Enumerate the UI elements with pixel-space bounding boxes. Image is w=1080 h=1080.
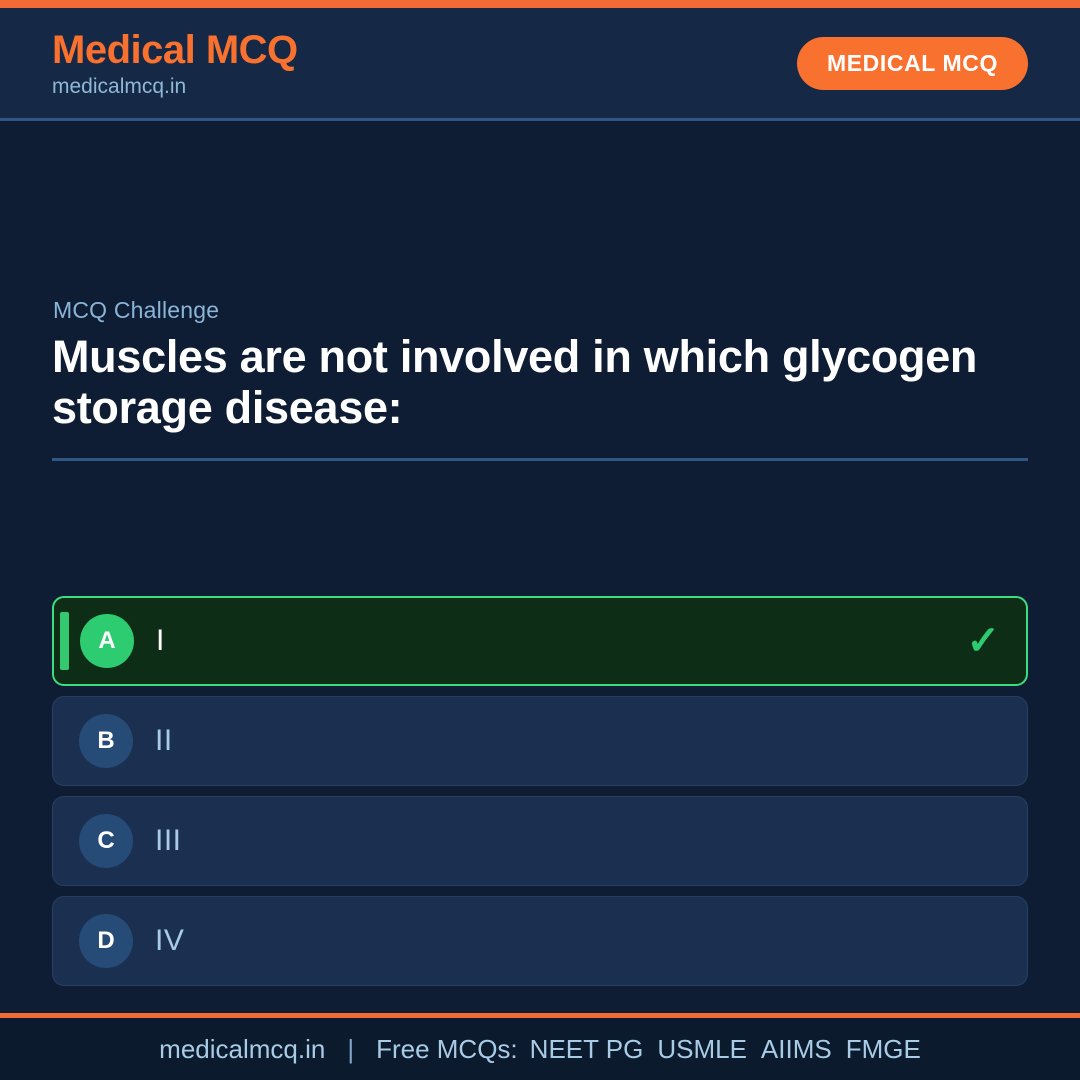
options-list: A I ✓ B II ✓ C III ✓ D IV ✓ (52, 596, 1028, 986)
option-letter-c: C (79, 814, 133, 868)
option-letter-b: B (79, 714, 133, 768)
correct-accent-bar (60, 612, 69, 670)
header-badge: MEDICAL MCQ (797, 37, 1028, 90)
footer-separator: | (347, 1034, 354, 1065)
check-icon: ✓ (966, 621, 1000, 661)
option-text-b: II (155, 724, 173, 758)
question-text: Muscles are not involved in which glycog… (52, 332, 1028, 434)
option-text-d: IV (155, 924, 184, 958)
question-kicker: MCQ Challenge (53, 297, 1028, 324)
footer: medicalmcq.in | Free MCQs: NEET PG USMLE… (0, 1013, 1080, 1080)
brand: Medical MCQ medicalmcq.in (52, 30, 298, 97)
option-row-c[interactable]: C III ✓ (52, 796, 1028, 886)
option-text-a: I (156, 624, 165, 658)
footer-exam-usmle: USMLE (657, 1034, 747, 1065)
question-block: MCQ Challenge Muscles are not involved i… (52, 297, 1028, 461)
option-row-b[interactable]: B II ✓ (52, 696, 1028, 786)
footer-exam-neetpg: NEET PG (530, 1034, 644, 1065)
main-content: MCQ Challenge Muscles are not involved i… (0, 121, 1080, 1013)
brand-title: Medical MCQ (52, 30, 298, 70)
option-text-c: III (155, 824, 182, 858)
top-accent-bar (0, 0, 1080, 8)
footer-exam-aiims: AIIMS (761, 1034, 832, 1065)
option-letter-a: A (80, 614, 134, 668)
option-row-a[interactable]: A I ✓ (52, 596, 1028, 686)
footer-exam-fmge: FMGE (846, 1034, 921, 1065)
footer-label: Free MCQs: (376, 1034, 518, 1065)
footer-content: medicalmcq.in | Free MCQs: NEET PG USMLE… (159, 1034, 921, 1065)
mcq-slide: Medical MCQ medicalmcq.in MEDICAL MCQ MC… (0, 0, 1080, 1080)
option-row-d[interactable]: D IV ✓ (52, 896, 1028, 986)
question-divider (52, 458, 1028, 461)
brand-subtitle: medicalmcq.in (52, 76, 298, 97)
option-letter-d: D (79, 914, 133, 968)
header: Medical MCQ medicalmcq.in MEDICAL MCQ (0, 8, 1080, 121)
footer-site: medicalmcq.in (159, 1034, 325, 1065)
